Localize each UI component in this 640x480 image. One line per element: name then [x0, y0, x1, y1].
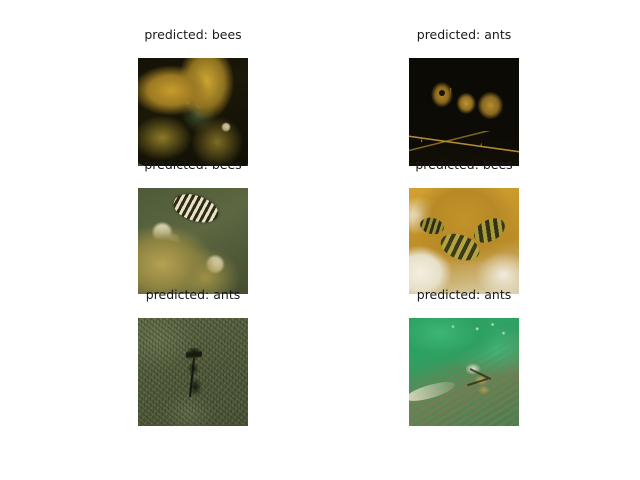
- image-panel-2: [138, 188, 248, 294]
- image-panel-5: [409, 318, 519, 426]
- subplot-title-4: predicted: ants: [146, 288, 240, 302]
- subplot-title-5: predicted: ants: [417, 288, 511, 302]
- image-panel-3: [409, 188, 519, 294]
- subplot-title-2: predicted: bees: [144, 158, 241, 172]
- photo-golden-ant-on-black: [409, 58, 519, 166]
- bee-body-upper-left: [419, 215, 446, 236]
- subplot-0: predicted: bees: [138, 28, 248, 166]
- subplot-3: predicted: bees: [409, 158, 519, 294]
- bee-body: [170, 190, 222, 228]
- subplot-4: predicted: ants: [138, 288, 248, 426]
- photo-yellow-flowering-plant: [138, 58, 248, 166]
- subplot-5: predicted: ants: [409, 288, 519, 426]
- twig-texture: [409, 131, 519, 155]
- photo-bees-on-sunflower: [409, 188, 519, 294]
- image-panel-4: [138, 318, 248, 426]
- matplotlib-figure: predicted: bees predicted: ants predicte…: [0, 0, 640, 480]
- ant-silhouette: [186, 348, 201, 402]
- subplot-title-3: predicted: bees: [415, 158, 512, 172]
- image-panel-0: [138, 58, 248, 166]
- photo-ant-on-green-water: [409, 318, 519, 426]
- subplot-1: predicted: ants: [409, 28, 519, 166]
- image-panel-1: [409, 58, 519, 166]
- subplot-2: predicted: bees: [138, 158, 248, 294]
- highlight-specks: [409, 318, 519, 426]
- photo-dark-ant-on-mossy-ground: [138, 318, 248, 426]
- photo-bee-on-white-flowers: [138, 188, 248, 294]
- subplot-title-0: predicted: bees: [144, 28, 241, 42]
- subplot-title-1: predicted: ants: [417, 28, 511, 42]
- foliage-texture: [138, 58, 248, 166]
